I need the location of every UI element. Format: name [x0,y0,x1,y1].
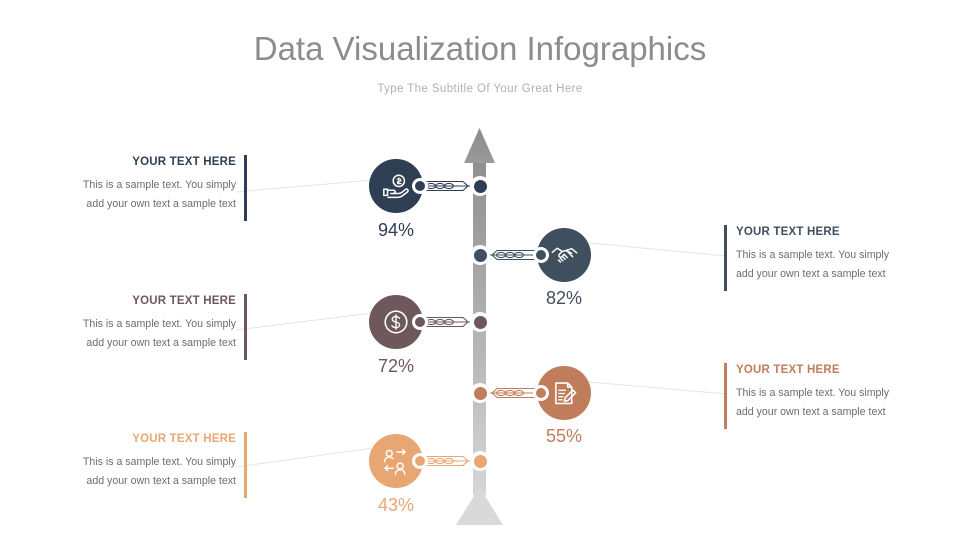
node-5-knob [412,453,428,469]
text-block-1-heading: YOUR TEXT HERE [36,155,236,169]
accent-bar-1 [244,155,247,221]
text-block-4[interactable]: YOUR TEXT HERE This is a sample text. Yo… [724,363,936,429]
text-block-5[interactable]: YOUR TEXT HERE This is a sample text. Yo… [36,432,247,498]
text-block-2[interactable]: YOUR TEXT HERE This is a sample text. Yo… [724,225,936,291]
text-block-2-line2: add your own text a sample text [736,265,936,284]
arrow-head [464,128,495,163]
spine-dot-4 [470,383,490,403]
text-block-3-heading: YOUR TEXT HERE [36,294,236,308]
text-block-1-line1: This is a sample text. You simply [36,176,236,195]
text-block-3-line1: This is a sample text. You simply [36,315,236,334]
spine-dot-1 [470,176,490,196]
text-block-3-line2: add your own text a sample text [36,334,236,353]
spine-dot-2 [470,245,490,265]
node-1-knob [412,178,428,194]
text-block-1[interactable]: YOUR TEXT HERE This is a sample text. Yo… [36,155,247,221]
accent-bar-4 [724,363,727,429]
node-4-knob [533,385,549,401]
hand-holding-coin-icon [381,171,411,201]
text-block-5-line1: This is a sample text. You simply [36,453,236,472]
people-exchange-icon [382,447,411,476]
accent-bar-3 [244,294,247,360]
infographic-slide: Data Visualization Infographics Type The… [0,0,960,540]
node-3-percent: 72% [346,356,446,377]
text-block-2-heading: YOUR TEXT HERE [736,225,936,239]
node-3-knob [412,314,428,330]
text-block-1-line2: add your own text a sample text [36,195,236,214]
text-block-5-heading: YOUR TEXT HERE [36,432,236,446]
node-5-percent: 43% [346,495,446,516]
accent-bar-5 [244,432,247,498]
text-block-3[interactable]: YOUR TEXT HERE This is a sample text. Yo… [36,294,247,360]
text-block-2-line1: This is a sample text. You simply [736,246,936,265]
text-block-4-line2: add your own text a sample text [736,403,936,422]
text-block-5-line2: add your own text a sample text [36,472,236,491]
text-block-4-heading: YOUR TEXT HERE [736,363,936,377]
arrow-tail [456,487,503,525]
node-4-percent: 55% [514,426,614,447]
accent-bar-2 [724,225,727,291]
node-1-percent: 94% [346,220,446,241]
text-block-4-line1: This is a sample text. You simply [736,384,936,403]
handshake-icon [550,241,579,270]
spine-dot-3 [470,312,490,332]
node-2-percent: 82% [514,288,614,309]
document-pen-icon [550,379,579,408]
node-2-knob [533,247,549,263]
dollar-circle-icon [381,307,411,337]
spine-dot-5 [470,451,490,471]
